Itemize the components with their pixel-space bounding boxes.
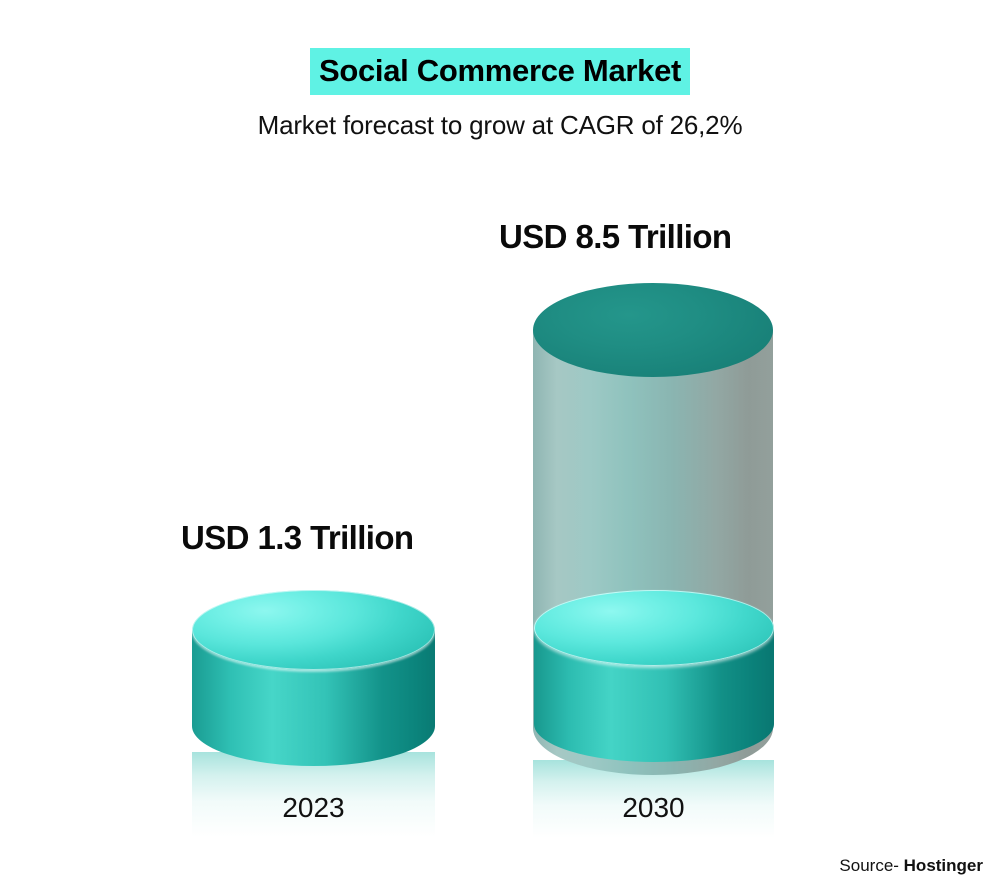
cylinder-top-cap-baseline <box>534 590 774 666</box>
cylinder-top-cap-2023 <box>192 590 435 670</box>
cylinder-top-rim-2023 <box>192 590 435 670</box>
category-label-2023: 2023 <box>192 792 435 824</box>
bar-cylinder-2023 <box>192 590 435 766</box>
chart-plot-area: USD 8.5 Trillion USD 1.3 Trillion 2023 2… <box>0 0 1000 896</box>
source-prefix: Source- <box>839 856 903 875</box>
value-label-2030: USD 8.5 Trillion <box>499 218 731 256</box>
value-label-2023: USD 1.3 Trillion <box>181 519 413 557</box>
source-attribution: Source- Hostinger <box>839 856 983 876</box>
bar-cylinder-2030-baseline <box>534 590 774 766</box>
cylinder-top-cap-2030 <box>533 283 773 377</box>
cylinder-top-rim-baseline <box>534 590 774 666</box>
source-name: Hostinger <box>904 856 983 875</box>
category-label-2030: 2030 <box>533 792 774 824</box>
